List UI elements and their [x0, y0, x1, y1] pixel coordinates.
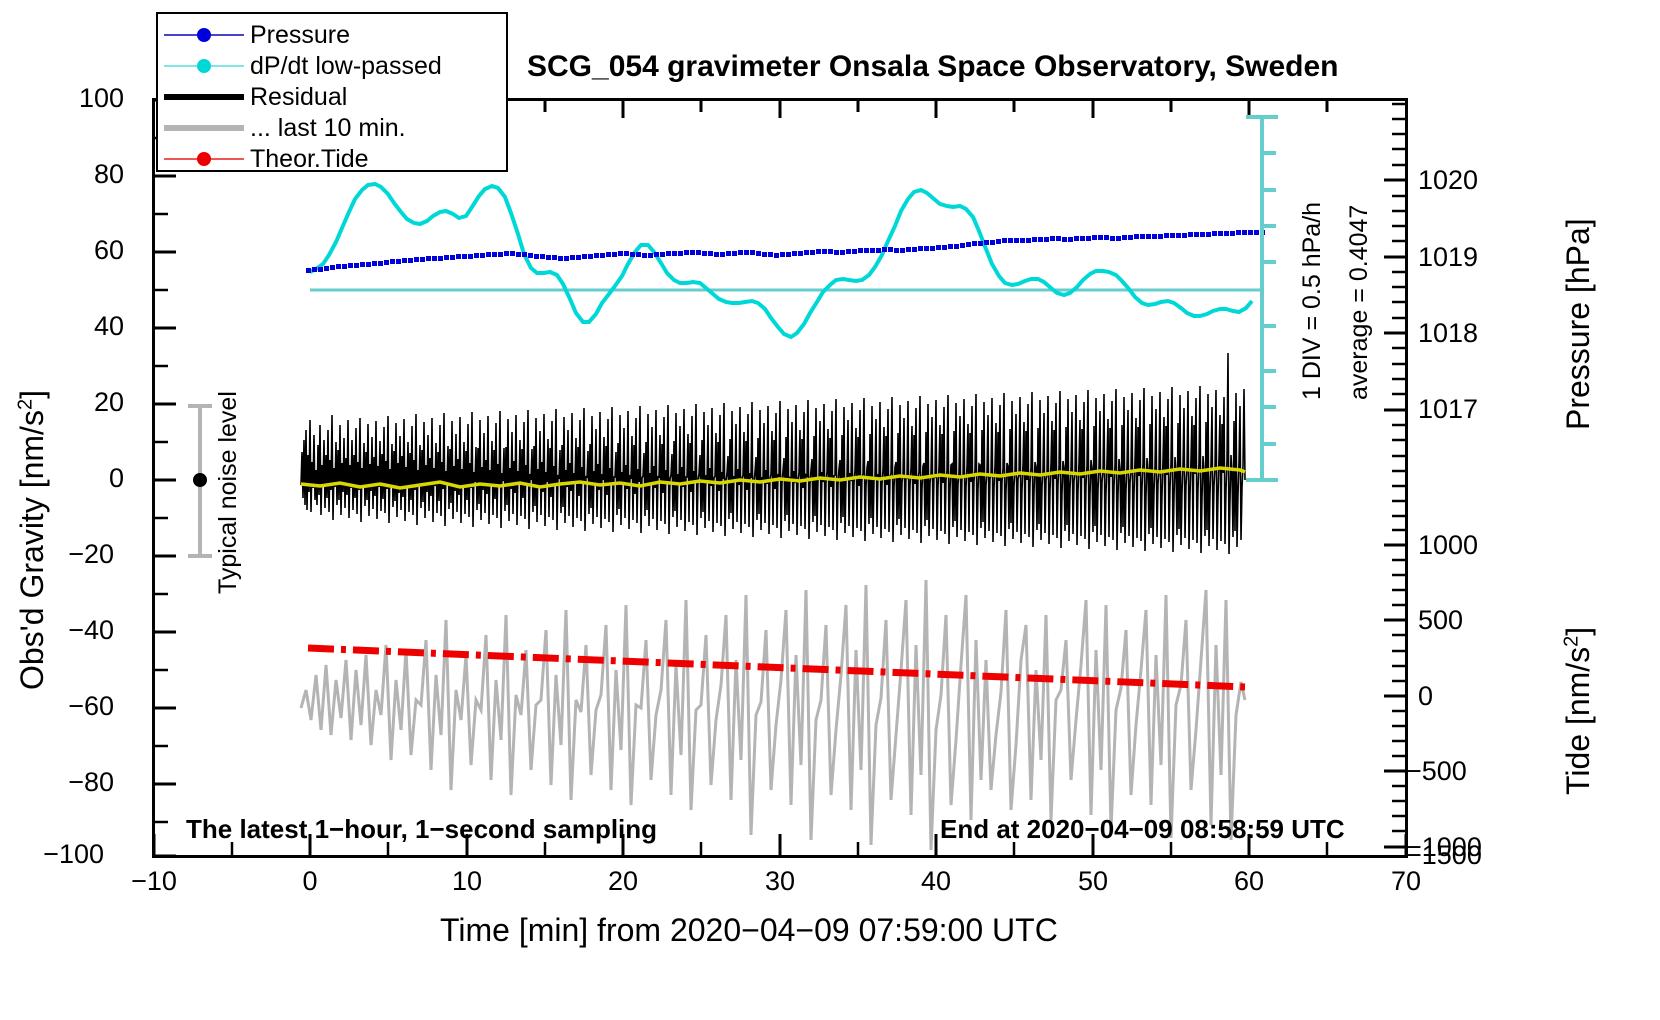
legend-item-residual[interactable]: Residual — [158, 82, 506, 112]
annotation-scale-average: average = 0.4047 — [1345, 205, 1374, 400]
noise-level-errorbar — [188, 406, 212, 556]
x-tick-m10: −10 — [109, 866, 199, 897]
y-axis-title-text: Obs'd Gravity [nm/s — [14, 410, 50, 690]
legend: Pressure dP/dt low-passed Residual ... l… — [156, 12, 508, 172]
legend-item-theor-tide[interactable]: Theor.Tide — [158, 144, 506, 174]
y-tick-m100: −100 — [8, 839, 104, 870]
y-tick-m60: −60 — [18, 691, 114, 722]
tide-axis-title-tail: ] — [1560, 627, 1596, 636]
tide-tick-500: 500 — [1418, 605, 1548, 636]
series-residual — [301, 353, 1245, 554]
pressure-tick-1017: 1017 — [1418, 394, 1548, 425]
legend-symbol-last10 — [158, 113, 250, 143]
y-tick-60: 60 — [28, 235, 124, 266]
series-last-10-min — [301, 580, 1245, 850]
pressure-tick-1018: 1018 — [1418, 318, 1548, 349]
y-axis-title: Obs'd Gravity [nm/s2] — [14, 390, 51, 690]
scale-bar — [1246, 117, 1278, 480]
x-tick-20: 20 — [578, 866, 668, 897]
pressure-tick-1020: 1020 — [1418, 165, 1548, 196]
annotation-bottom-right: End at 2020−04−09 08:58:59 UTC — [940, 814, 1345, 845]
annotation-bottom-left: The latest 1−hour, 1−second sampling — [186, 814, 657, 845]
series-pressure — [306, 230, 1265, 273]
y-axis-title-tail: ] — [14, 390, 50, 399]
annotation-scale-div: 1 DIV = 0.5 hPa/h — [1298, 202, 1327, 400]
tide-tick-m500: −500 — [1406, 756, 1536, 787]
tide-axis-title: Tide [nm/s2] — [1560, 627, 1597, 795]
x-tick-50: 50 — [1048, 866, 1138, 897]
chart-page: SCG_054 gravimeter Onsala Space Observat… — [0, 0, 1660, 1020]
legend-symbol-pressure — [158, 20, 250, 50]
x-tick-0: 0 — [265, 866, 355, 897]
chart-title: SCG_054 gravimeter Onsala Space Observat… — [527, 50, 1339, 84]
x-tick-60: 60 — [1204, 866, 1294, 897]
legend-symbol-theor-tide — [158, 144, 250, 174]
series-dpdt-lowpassed — [310, 184, 1252, 337]
tide-axis-title-sup: 2 — [1560, 636, 1582, 647]
legend-label-dpdt: dP/dt low-passed — [250, 52, 442, 81]
y-axis-title-sup: 2 — [14, 399, 36, 410]
annotation-noise-level: Typical noise level — [214, 391, 243, 594]
tide-tick-0: 0 — [1418, 681, 1548, 712]
x-tick-10: 10 — [422, 866, 512, 897]
legend-symbol-residual — [158, 82, 250, 112]
legend-item-dpdt[interactable]: dP/dt low-passed — [158, 51, 506, 81]
legend-label-pressure: Pressure — [250, 21, 350, 50]
pressure-axis-title: Pressure [hPa] — [1560, 218, 1597, 430]
legend-label-theor-tide: Theor.Tide — [250, 145, 369, 174]
tide-axis-title-text: Tide [nm/s — [1560, 647, 1596, 795]
x-axis-title: Time [min] from 2020−04−09 07:59:00 UTC — [440, 912, 1058, 949]
pressure-tick-1019: 1019 — [1418, 242, 1548, 273]
tide-tick-m1500: −1500 — [1406, 840, 1536, 871]
y-tick-40: 40 — [28, 311, 124, 342]
legend-item-pressure[interactable]: Pressure — [158, 20, 506, 50]
x-tick-30: 30 — [735, 866, 825, 897]
legend-symbol-dpdt — [158, 51, 250, 81]
legend-label-residual: Residual — [250, 83, 347, 112]
x-tick-40: 40 — [891, 866, 981, 897]
y-tick-80: 80 — [28, 159, 124, 190]
y-tick-m80: −80 — [18, 767, 114, 798]
legend-label-last10: ... last 10 min. — [250, 114, 406, 143]
legend-item-last10[interactable]: ... last 10 min. — [158, 113, 506, 143]
y-tick-100: 100 — [28, 83, 124, 114]
right-axis-ticks — [1384, 180, 1406, 847]
right-axis-minor-ticks — [1392, 104, 1406, 831]
tide-tick-1000: 1000 — [1418, 530, 1548, 561]
